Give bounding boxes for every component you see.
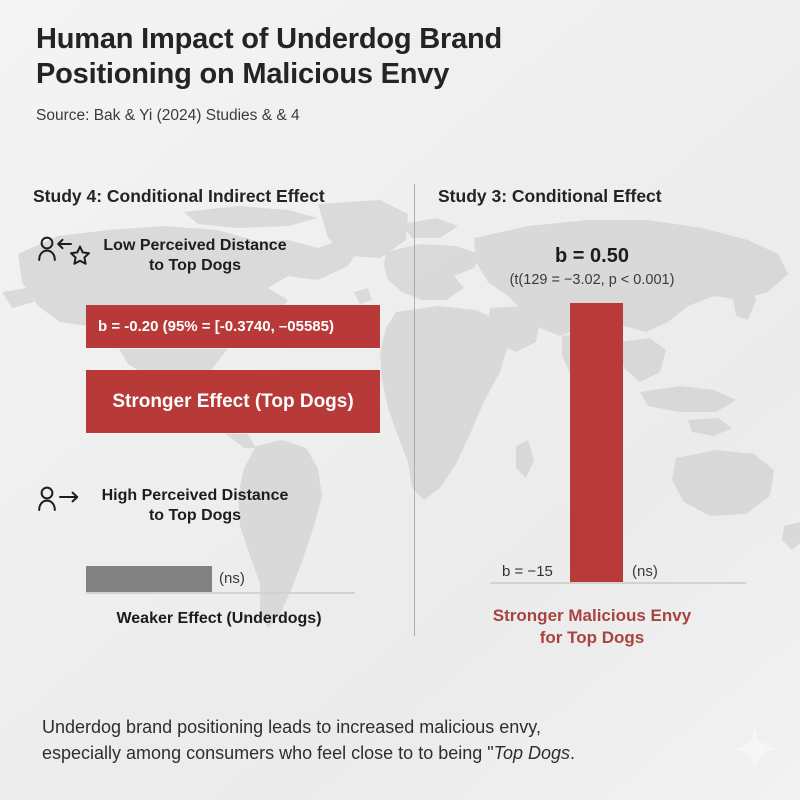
- source-citation: Source: Bak & Yi (2024) Studies & & 4: [36, 107, 736, 125]
- footer-summary: Underdog brand positioning leads to incr…: [42, 714, 742, 766]
- panel-divider: [414, 184, 415, 636]
- weaker-effect-bar: [86, 566, 212, 592]
- right-panel-caption: Stronger Malicious Envy for Top Dogs: [452, 605, 732, 649]
- malicious-envy-bar: [570, 303, 623, 582]
- right-panel-title: Study 3: Conditional Effect: [438, 186, 662, 207]
- left-ns-label: (ns): [219, 570, 245, 587]
- weaker-effect-caption: Weaker Effect (Underdogs): [66, 610, 372, 628]
- confidence-interval-bar-label: b = -0.20 (95% = [-0.3740, –05585): [98, 318, 334, 335]
- page-title-line-2: Positioning on Malicious Envy: [36, 58, 449, 90]
- right-panel-caption-line-2: for Top Dogs: [540, 628, 645, 647]
- right-panel-caption-line-1: Stronger Malicious Envy: [493, 606, 691, 625]
- right-ns-label: (ns): [632, 563, 658, 580]
- left-chart-baseline: [86, 592, 355, 594]
- footer-line-2-prefix: especially among consumers who feel clos…: [42, 743, 494, 763]
- low-distance-label-line-2: to Top Dogs: [149, 257, 241, 274]
- person-arrow-icon: [36, 484, 84, 525]
- left-panel-title: Study 4: Conditional Indirect Effect: [33, 186, 325, 207]
- right-stat-significance: (t(129 = −3.02, p < 0.001): [437, 272, 747, 288]
- low-distance-label: Low Perceived Distance to Top Dogs: [95, 236, 295, 277]
- high-distance-label-line-2: to Top Dogs: [149, 507, 241, 524]
- low-distance-label-line-1: Low Perceived Distance: [103, 237, 286, 254]
- page-title: Human Impact of Underdog Brand Positioni…: [36, 22, 736, 93]
- page-title-line-1: Human Impact of Underdog Brand: [36, 23, 502, 55]
- confidence-interval-bar: b = -0.20 (95% = [-0.3740, –05585): [86, 305, 380, 348]
- stronger-effect-bar-label: Stronger Effect (Top Dogs): [112, 391, 353, 413]
- person-arrow-star-icon: [36, 234, 94, 275]
- right-chart-baseline: [490, 582, 746, 584]
- footer-line-2-suffix: .: [570, 743, 575, 763]
- right-stat-coefficient: b = 0.50: [437, 245, 747, 268]
- high-distance-label: High Perceived Distance to Top Dogs: [95, 486, 295, 527]
- header: Human Impact of Underdog Brand Positioni…: [36, 22, 736, 125]
- right-baseline-left-label: b = −15: [502, 563, 553, 580]
- infographic-canvas: Human Impact of Underdog Brand Positioni…: [0, 0, 800, 800]
- high-distance-label-line-1: High Perceived Distance: [102, 487, 289, 504]
- footer-line-1: Underdog brand positioning leads to incr…: [42, 717, 541, 737]
- footer-line-2-emphasis: Top Dogs: [494, 743, 570, 763]
- stronger-effect-bar: Stronger Effect (Top Dogs): [86, 370, 380, 433]
